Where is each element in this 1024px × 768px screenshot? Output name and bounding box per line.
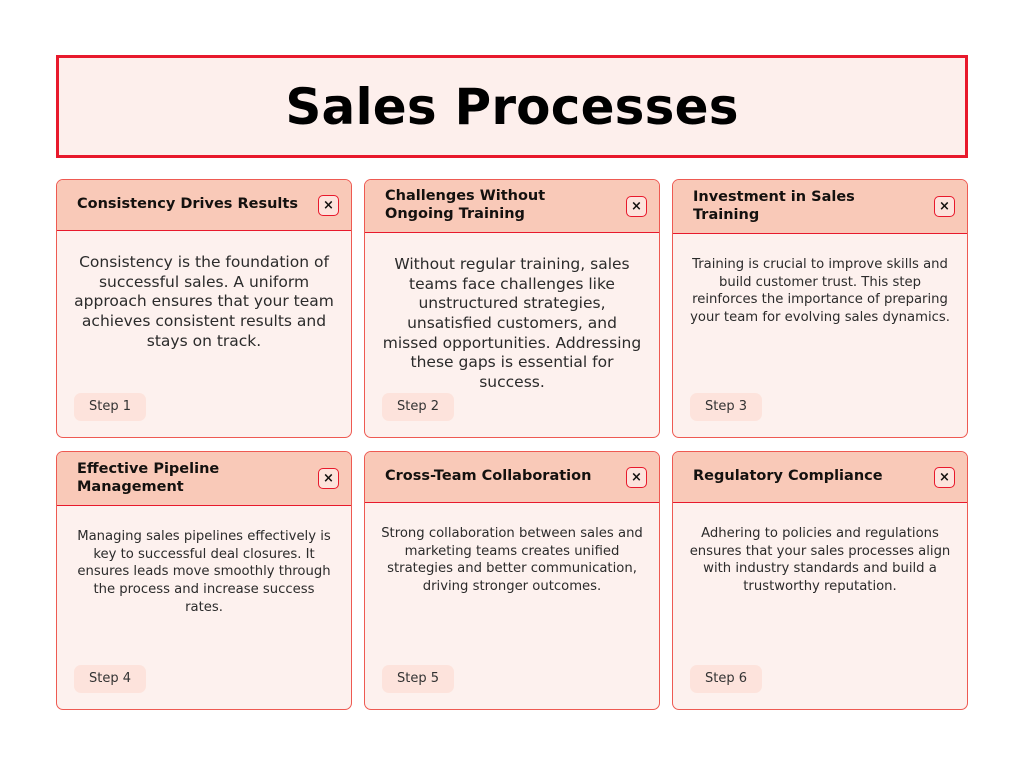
card-title: Effective Pipeline Management: [77, 461, 310, 496]
card-description: Managing sales pipelines effectively is …: [73, 528, 335, 664]
close-icon[interactable]: ×: [318, 195, 339, 216]
card-footer: Step 4: [57, 665, 351, 709]
card-title: Regulatory Compliance: [693, 468, 926, 486]
step-badge[interactable]: Step 4: [74, 665, 146, 693]
close-icon[interactable]: ×: [934, 196, 955, 217]
card-footer: Step 2: [365, 393, 659, 437]
card-item: Investment in Sales Training × Training …: [672, 179, 968, 438]
card-header: Challenges Without Ongoing Training ×: [365, 180, 659, 233]
card-title: Cross-Team Collaboration: [385, 468, 618, 486]
card-footer: Step 3: [673, 393, 967, 437]
page-title-banner: Sales Processes: [56, 55, 968, 158]
card-description: Adhering to policies and regulations ens…: [689, 525, 951, 665]
card-item: Cross-Team Collaboration × Strong collab…: [364, 451, 660, 710]
step-badge[interactable]: Step 6: [690, 665, 762, 693]
card-item: Regulatory Compliance × Adhering to poli…: [672, 451, 968, 710]
card-header: Effective Pipeline Management ×: [57, 452, 351, 506]
card-body: Adhering to policies and regulations ens…: [673, 503, 967, 665]
step-badge[interactable]: Step 5: [382, 665, 454, 693]
card-body: Managing sales pipelines effectively is …: [57, 506, 351, 664]
step-badge[interactable]: Step 2: [382, 393, 454, 421]
card-item: Consistency Drives Results × Consistency…: [56, 179, 352, 438]
page-title: Sales Processes: [285, 82, 738, 132]
card-title: Consistency Drives Results: [77, 196, 310, 214]
card-item: Effective Pipeline Management × Managing…: [56, 451, 352, 710]
close-icon[interactable]: ×: [626, 196, 647, 217]
step-badge[interactable]: Step 1: [74, 393, 146, 421]
card-header: Investment in Sales Training ×: [673, 180, 967, 234]
card-footer: Step 6: [673, 665, 967, 709]
card-header: Regulatory Compliance ×: [673, 452, 967, 503]
card-title: Investment in Sales Training: [693, 189, 926, 224]
card-item: Challenges Without Ongoing Training × Wi…: [364, 179, 660, 438]
card-title: Challenges Without Ongoing Training: [385, 188, 618, 223]
card-description: Consistency is the foundation of success…: [73, 253, 335, 393]
card-description: Without regular training, sales teams fa…: [381, 255, 643, 393]
close-icon[interactable]: ×: [934, 467, 955, 488]
card-body: Training is crucial to improve skills an…: [673, 234, 967, 392]
card-footer: Step 5: [365, 665, 659, 709]
step-badge[interactable]: Step 3: [690, 393, 762, 421]
close-icon[interactable]: ×: [626, 467, 647, 488]
close-icon[interactable]: ×: [318, 468, 339, 489]
page-root: Sales Processes Consistency Drives Resul…: [0, 0, 1024, 768]
card-footer: Step 1: [57, 393, 351, 437]
card-description: Strong collaboration between sales and m…: [381, 525, 643, 665]
card-body: Without regular training, sales teams fa…: [365, 233, 659, 393]
card-grid: Consistency Drives Results × Consistency…: [56, 179, 968, 710]
card-body: Consistency is the foundation of success…: [57, 231, 351, 393]
card-body: Strong collaboration between sales and m…: [365, 503, 659, 665]
card-description: Training is crucial to improve skills an…: [689, 256, 951, 392]
card-header: Cross-Team Collaboration ×: [365, 452, 659, 503]
card-header: Consistency Drives Results ×: [57, 180, 351, 231]
